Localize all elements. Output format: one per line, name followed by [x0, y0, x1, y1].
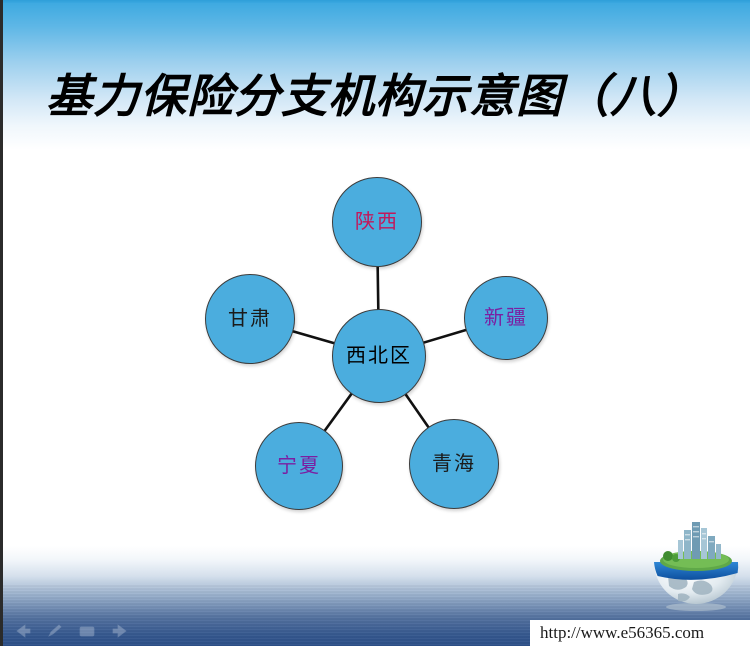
node-label: 新疆 — [484, 308, 528, 328]
previous-arrow-icon[interactable] — [14, 624, 32, 638]
node-label: 甘肃 — [228, 309, 272, 329]
node-label: 宁夏 — [277, 456, 321, 476]
node-label: 青海 — [432, 454, 476, 474]
node-label: 西北区 — [346, 346, 412, 366]
slideshow-nav-controls[interactable] — [14, 624, 129, 638]
node-branch-shaanxi[interactable]: 陕西 — [332, 177, 422, 267]
website-url-plate[interactable]: http://www.e56365.com — [530, 620, 750, 646]
presentation-slide: 基力保险分支机构示意图（八） 西北区 陕西 新疆 甘肃 宁夏 青海 — [0, 0, 750, 646]
node-label: 陕西 — [355, 212, 399, 232]
node-branch-ningxia[interactable]: 宁夏 — [255, 422, 343, 510]
globe-city-logo — [648, 516, 744, 620]
website-url-text: http://www.e56365.com — [540, 623, 704, 643]
node-branch-xinjiang[interactable]: 新疆 — [464, 276, 548, 360]
node-center-northwest-region[interactable]: 西北区 — [332, 309, 426, 403]
org-chart-diagram: 西北区 陕西 新疆 甘肃 宁夏 青海 — [0, 0, 750, 646]
menu-box-icon[interactable] — [78, 624, 96, 638]
next-arrow-icon[interactable] — [111, 624, 129, 638]
pen-icon[interactable] — [47, 624, 63, 638]
node-branch-qinghai[interactable]: 青海 — [409, 419, 499, 509]
node-branch-gansu[interactable]: 甘肃 — [205, 274, 295, 364]
